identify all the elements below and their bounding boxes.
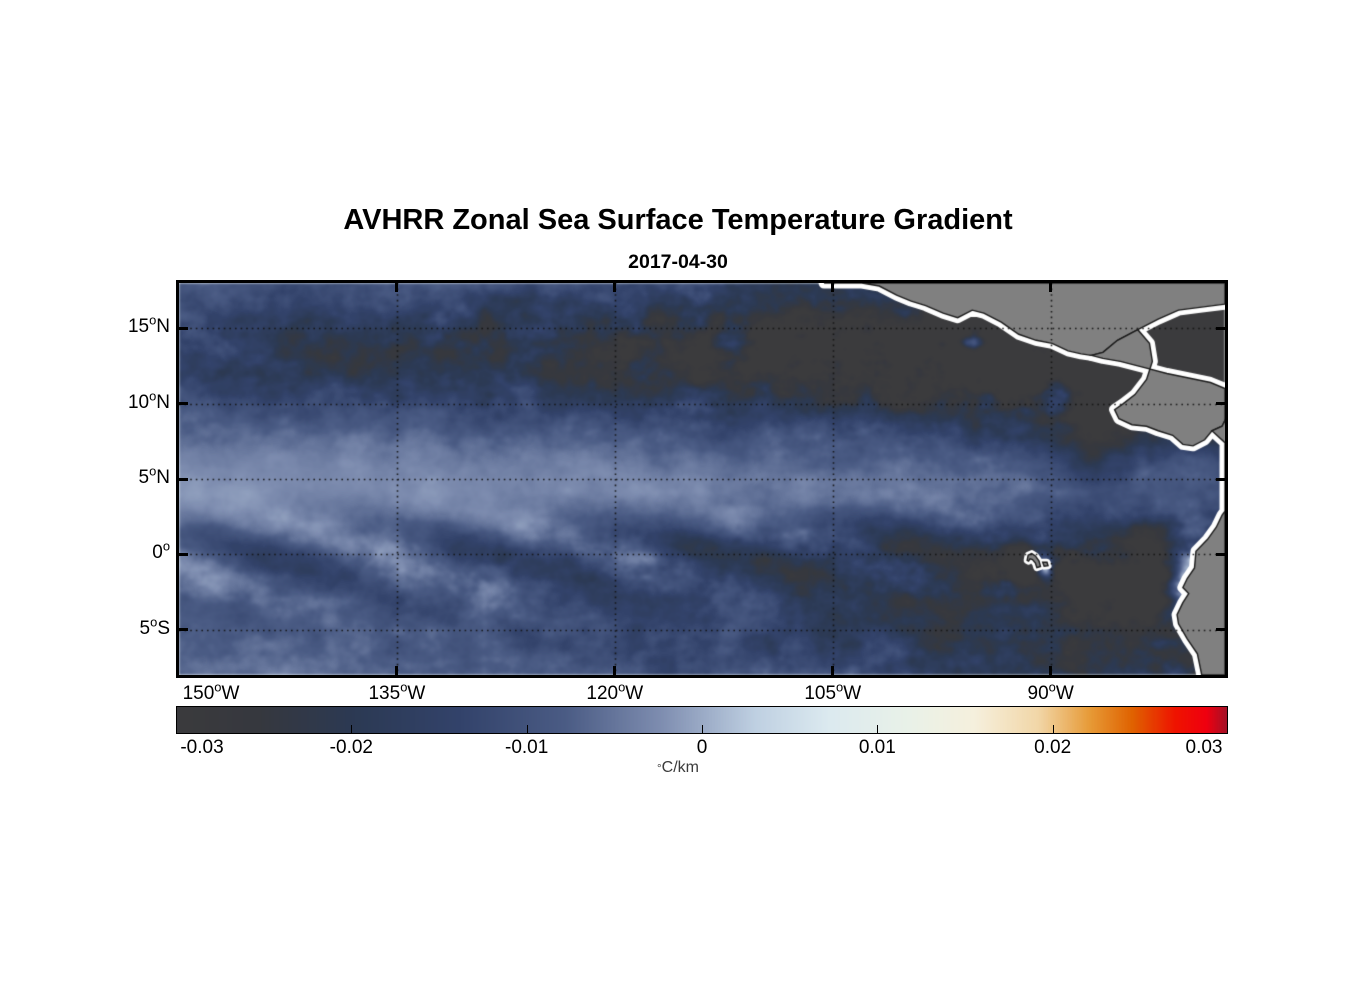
sst-gradient-heatmap	[179, 283, 1225, 675]
degree-symbol: o	[163, 539, 170, 554]
map-axes	[176, 280, 1228, 678]
colorbar-unit-label: °C/km	[0, 760, 1356, 776]
colorbar-tick-label: 0.02	[1034, 738, 1071, 757]
colorbar-tick-label: -0.02	[330, 738, 373, 757]
degree-symbol: o	[150, 614, 157, 629]
y-tick-right-4	[1216, 628, 1225, 631]
x-axis-tick-label: 90oW	[1028, 684, 1074, 703]
x-tick-bottom-2	[613, 666, 616, 675]
x-tick-bottom-4	[1049, 666, 1052, 675]
y-tick-left-3	[179, 553, 188, 556]
colorbar-tick-label: 0.03	[1186, 738, 1223, 757]
colorbar-tick-label: -0.03	[180, 738, 223, 757]
x-axis-tick-label: 150oW	[183, 684, 240, 703]
colorbar-tick-label: 0.01	[859, 738, 896, 757]
figure-root: AVHRR Zonal Sea Surface Temperature Grad…	[0, 0, 1356, 1000]
y-tick-right-2	[1216, 478, 1225, 481]
colorbar-tick-4	[877, 725, 878, 734]
x-tick-top-4	[1049, 283, 1052, 292]
colorbar-tick-1	[351, 725, 352, 734]
unit-text: C/km	[662, 759, 699, 776]
y-axis-tick-label: 15oN	[128, 317, 170, 336]
degree-symbol: o	[214, 680, 221, 695]
x-tick-bottom-1	[395, 666, 398, 675]
y-tick-left-1	[179, 402, 188, 405]
y-axis-tick-label: 0o	[152, 543, 170, 562]
degree-symbol: o	[149, 313, 156, 328]
x-tick-bottom-3	[831, 666, 834, 675]
degree-symbol: o	[618, 680, 625, 695]
colorbar-tick-2	[527, 725, 528, 734]
x-tick-top-3	[831, 283, 834, 292]
degree-symbol: o	[400, 680, 407, 695]
degree-symbol: o	[1049, 680, 1056, 695]
x-axis-tick-label: 135oW	[368, 684, 425, 703]
colorbar-tick-5	[1053, 725, 1054, 734]
colorbar-tick-label: -0.01	[505, 738, 548, 757]
x-tick-top-1	[395, 283, 398, 292]
x-tick-top-2	[613, 283, 616, 292]
degree-symbol: o	[836, 680, 843, 695]
figure-title: AVHRR Zonal Sea Surface Temperature Grad…	[0, 206, 1356, 235]
y-tick-left-0	[179, 327, 188, 330]
y-axis-tick-label: 10oN	[128, 393, 170, 412]
y-tick-right-1	[1216, 402, 1225, 405]
colorbar-tick-label: 0	[697, 738, 708, 757]
degree-symbol: o	[149, 464, 156, 479]
x-axis-tick-label: 120oW	[586, 684, 643, 703]
figure-subtitle: 2017-04-30	[0, 253, 1356, 273]
y-tick-right-3	[1216, 553, 1225, 556]
colorbar-tick-3	[702, 725, 703, 734]
y-axis-tick-label: 5oN	[139, 468, 171, 487]
y-tick-left-4	[179, 628, 188, 631]
y-tick-right-0	[1216, 327, 1225, 330]
degree-symbol: o	[149, 388, 156, 403]
y-axis-tick-label: 5oS	[140, 619, 170, 638]
y-tick-left-2	[179, 478, 188, 481]
x-axis-tick-label: 105oW	[804, 684, 861, 703]
